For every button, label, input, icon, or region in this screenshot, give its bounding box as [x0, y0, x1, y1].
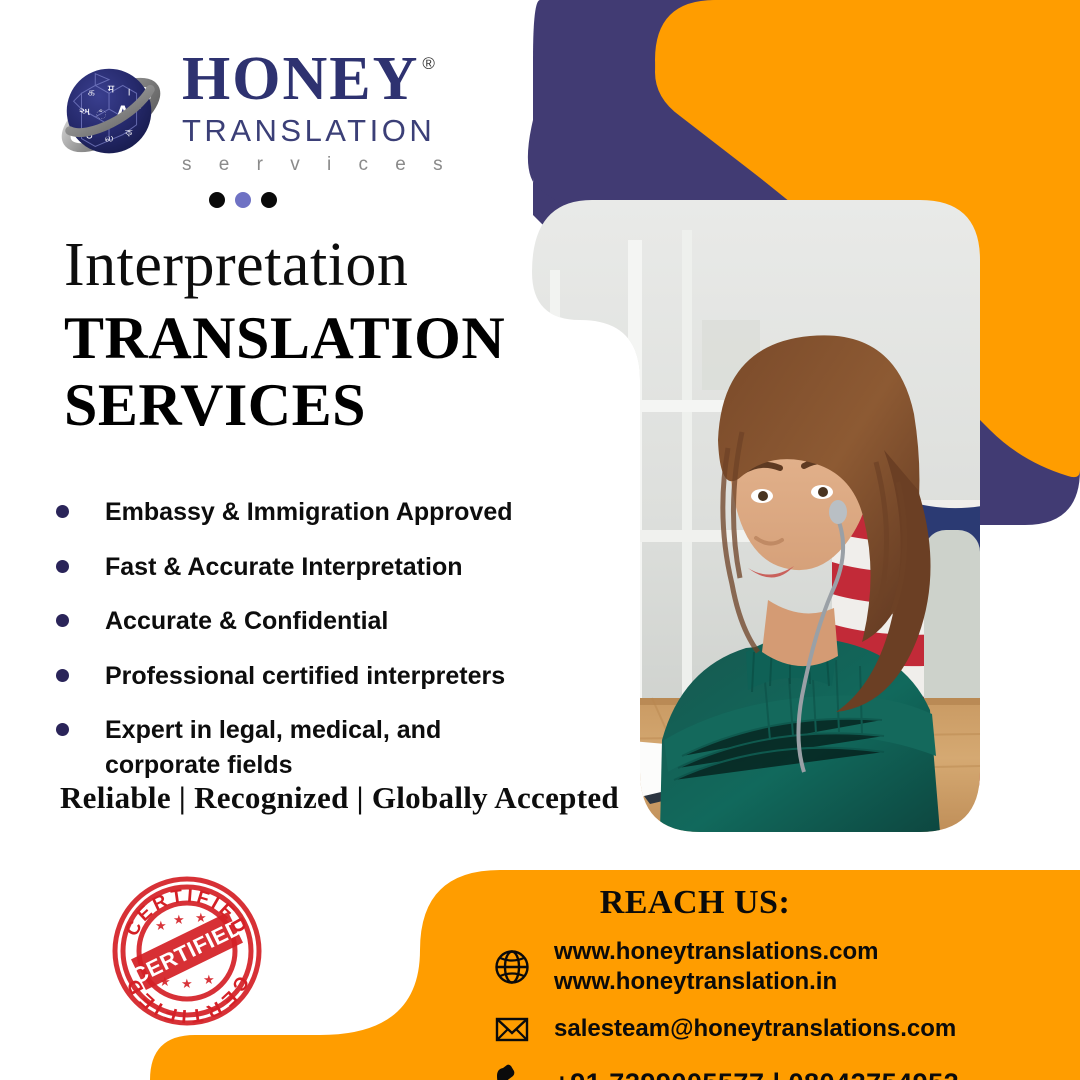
contact-heading: REACH US:	[430, 872, 960, 922]
dot-separator	[209, 192, 277, 208]
svg-text:ಁ: ಁ	[96, 108, 106, 123]
phone-numbers[interactable]: +91 7299005577 | 08042754952	[554, 1068, 959, 1080]
logo-secondary-name: TRANSLATION	[182, 112, 454, 151]
svg-text:ক: ক	[124, 128, 133, 139]
svg-text:।: ।	[127, 85, 131, 98]
headline-line-1: TRANSLATION	[64, 305, 534, 372]
svg-text:અ: અ	[79, 105, 91, 118]
dot-1	[209, 192, 225, 208]
list-item: Fast & Accurate Interpretation	[56, 550, 536, 585]
feature-text: Fast & Accurate Interpretation	[105, 550, 462, 585]
bullet-dot-icon	[56, 505, 69, 518]
dot-3	[261, 192, 277, 208]
poster-canvas: க म । અ ಁ A শ ర ல ক HONEY ® TRANSLATION …	[0, 0, 1080, 1080]
list-item: Professional certified interpreters	[56, 659, 536, 694]
headline-main-title: TRANSLATION SERVICES	[64, 305, 534, 439]
bullet-dot-icon	[56, 723, 69, 736]
list-item: Expert in legal, medical, and corporate …	[56, 713, 536, 782]
headline-block: Interpretation TRANSLATION SERVICES	[64, 232, 534, 439]
bullet-dot-icon	[56, 669, 69, 682]
phone-icon	[492, 1063, 532, 1080]
feature-text: Expert in legal, medical, and corporate …	[105, 713, 465, 782]
logo-tertiary-name: s e r v i c e s	[182, 151, 454, 180]
logo-primary-name: HONEY	[182, 50, 419, 110]
website-url-2[interactable]: www.honeytranslation.in	[554, 968, 879, 996]
svg-text:म: म	[108, 82, 115, 95]
contact-row-phone[interactable]: +91 7299005577 | 08042754952	[430, 1063, 1080, 1080]
interpreter-photo-illustration	[532, 200, 980, 832]
hero-photo-clip	[532, 200, 980, 832]
svg-text:ல: ல	[105, 131, 114, 144]
svg-text:★: ★	[159, 975, 171, 990]
envelope-icon	[492, 1009, 532, 1049]
list-item: Embassy & Immigration Approved	[56, 495, 536, 530]
svg-text:★: ★	[173, 913, 185, 928]
headline-script-line: Interpretation	[64, 232, 534, 299]
certified-stamp-icon: CERTIFIED ★ ★ ★ ★ ★ ★ CERTIFIED CERTIFIE…	[103, 872, 271, 1030]
registered-trademark-icon: ®	[422, 54, 435, 74]
svg-text:★: ★	[155, 919, 167, 934]
feature-text: Professional certified interpreters	[105, 659, 505, 694]
website-url-1[interactable]: www.honeytranslations.com	[554, 938, 879, 966]
globe-icon	[492, 947, 532, 987]
feature-list: Embassy & Immigration Approved Fast & Ac…	[56, 495, 536, 782]
contact-row-email[interactable]: salesteam@honeytranslations.com	[430, 1009, 1080, 1049]
svg-text:க: க	[88, 85, 95, 98]
bullet-dot-icon	[56, 560, 69, 573]
contact-block: REACH US: www.honeytranslations.com www.…	[430, 872, 1080, 1080]
svg-text:★: ★	[203, 973, 215, 988]
hero-photo	[532, 200, 980, 832]
website-lines: www.honeytranslations.com www.honeytrans…	[554, 938, 879, 995]
feature-text: Embassy & Immigration Approved	[105, 495, 513, 530]
email-address[interactable]: salesteam@honeytranslations.com	[554, 1015, 956, 1043]
contact-row-website[interactable]: www.honeytranslations.com www.honeytrans…	[430, 938, 1080, 995]
list-item: Accurate & Confidential	[56, 604, 536, 639]
svg-text:★: ★	[181, 977, 193, 992]
dot-2	[235, 192, 251, 208]
logo-wordmark: HONEY ® TRANSLATION s e r v i c e s	[182, 50, 454, 180]
brand-logo[interactable]: க म । અ ಁ A শ ర ல ক HONEY ® TRANSLATION …	[52, 46, 454, 180]
globe-languages-icon: க म । અ ಁ A শ ర ல ক	[52, 54, 170, 172]
feature-text: Accurate & Confidential	[105, 604, 388, 639]
svg-text:★: ★	[195, 911, 207, 926]
bullet-dot-icon	[56, 614, 69, 627]
headline-line-2: SERVICES	[64, 372, 534, 439]
